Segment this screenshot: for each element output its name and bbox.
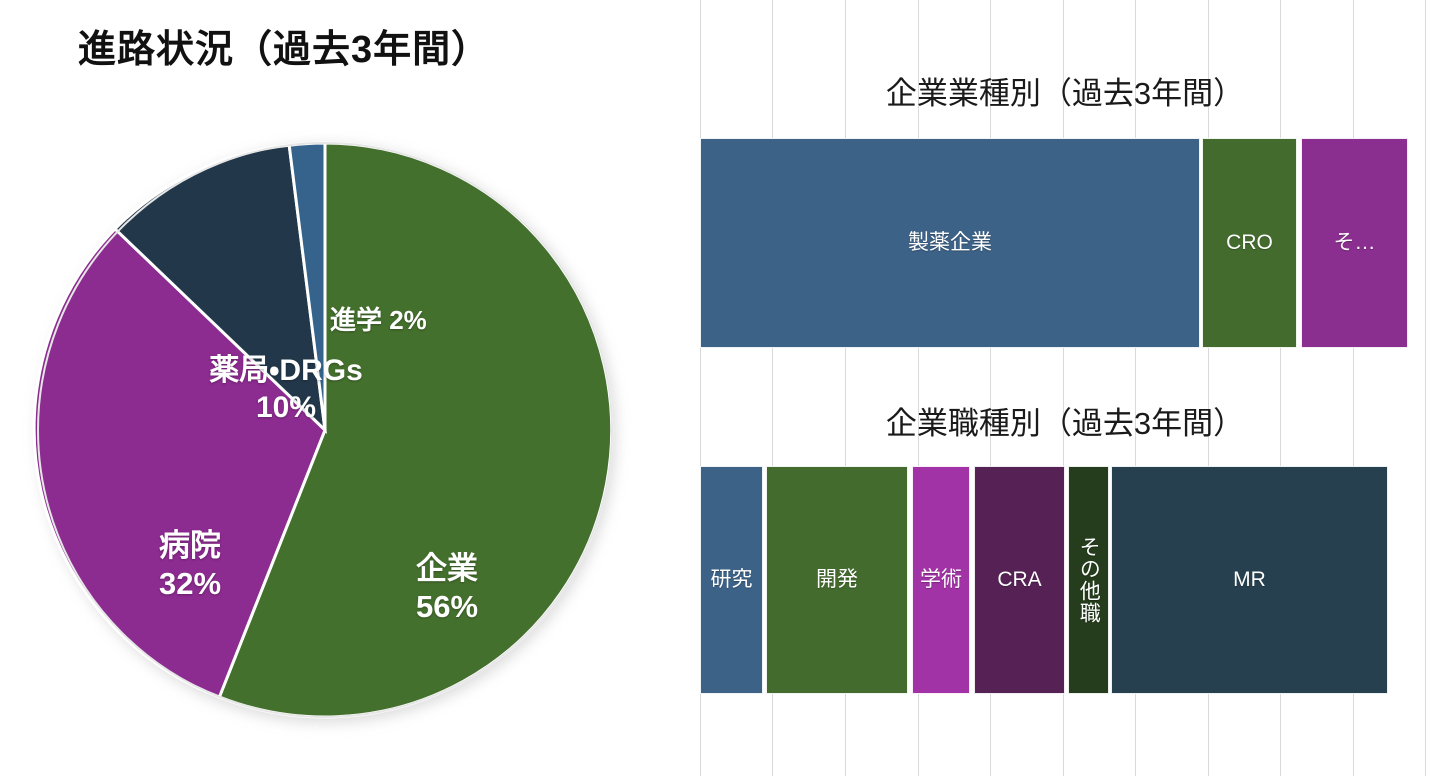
bar-segment-kenkyu-label: 研究	[711, 568, 753, 592]
industry-chart: 企業業種別（過去3年間） 製薬企業 CRO そ…	[690, 68, 1440, 113]
bar-segment-mr-label: MR	[1233, 568, 1266, 592]
bar-segment-sonota[interactable]: そ…	[1301, 138, 1408, 348]
pie-chart: 企業 56% 病院 32% 薬局・DRGs 10% 進学 2%	[30, 135, 620, 725]
job-type-chart-title: 企業職種別（過去3年間）	[690, 398, 1440, 443]
bar-segment-cra-label: CRA	[997, 568, 1041, 592]
pie-label-shingaku: 進学 2%	[330, 305, 510, 337]
bar-segment-kaihatsu-label: 開発	[816, 568, 858, 592]
bar-segment-sonotashoku-label: その他職	[1077, 536, 1101, 624]
job-type-stacked-bar: 研究 開発 学術 CRA その他職 MR	[690, 466, 1440, 694]
bar-segment-cro-label: CRO	[1226, 231, 1273, 255]
bar-segment-sonota-label: そ…	[1334, 231, 1376, 255]
pie-label-yakkyoku: 薬局・DRGs 10%	[176, 353, 396, 426]
page-title: 進路状況（過去3年間）	[78, 18, 490, 73]
bar-segment-sonotashoku[interactable]: その他職	[1068, 466, 1109, 694]
pie-label-byouin-name: 病院	[159, 528, 221, 563]
slide-canvas: 進路状況（過去3年間） 企業 56% 病院	[0, 0, 1440, 776]
industry-stacked-bar: 製薬企業 CRO そ…	[690, 138, 1440, 348]
job-type-chart: 企業職種別（過去3年間） 研究 開発 学術 CRA その他職 MR	[690, 398, 1440, 443]
pie-label-yakkyoku-value: 10%	[256, 391, 316, 424]
bar-segment-cra[interactable]: CRA	[974, 466, 1065, 694]
bar-segment-seiyaku-label: 製薬企業	[908, 231, 992, 255]
bar-segment-mr[interactable]: MR	[1111, 466, 1388, 694]
pie-chart-svg	[30, 135, 620, 725]
pie-label-kigyou-name: 企業	[416, 551, 478, 586]
bar-segment-kaihatsu[interactable]: 開発	[766, 466, 908, 694]
pie-label-kigyou-value: 56%	[416, 589, 478, 624]
pie-label-shingaku-name: 進学 2%	[330, 305, 427, 335]
bar-charts-panel: 企業業種別（過去3年間） 製薬企業 CRO そ… 企業職種別（過去3年間） 研究	[690, 0, 1440, 776]
pie-label-yakkyoku-name: 薬局・DRGs	[209, 354, 363, 387]
bar-segment-cro[interactable]: CRO	[1202, 138, 1297, 348]
bar-segment-gakujutsu-label: 学術	[920, 568, 962, 592]
bar-segment-seiyaku[interactable]: 製薬企業	[700, 138, 1200, 348]
pie-label-byouin-value: 32%	[159, 566, 221, 601]
bar-segment-gakujutsu[interactable]: 学術	[912, 466, 970, 694]
bar-segment-kenkyu[interactable]: 研究	[700, 466, 763, 694]
industry-chart-title: 企業業種別（過去3年間）	[690, 68, 1440, 113]
pie-chart-panel: 進路状況（過去3年間） 企業 56% 病院	[0, 0, 690, 776]
pie-label-byouin: 病院 32%	[125, 527, 255, 603]
pie-label-kigyou: 企業 56%	[382, 550, 512, 626]
